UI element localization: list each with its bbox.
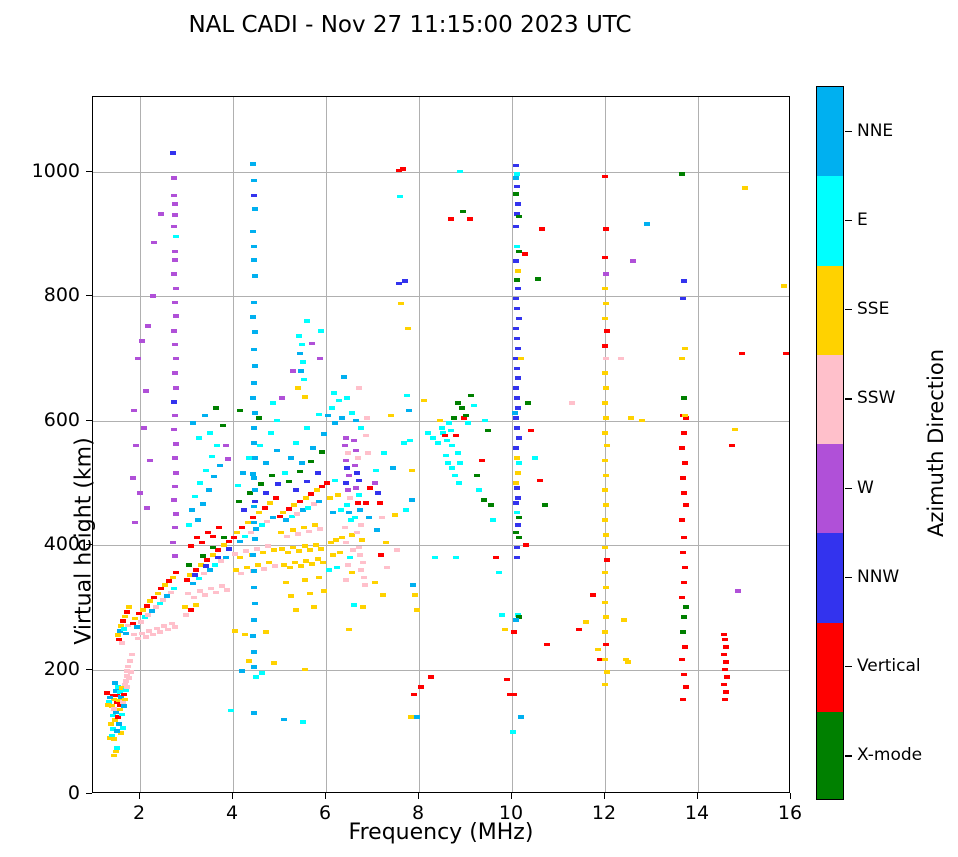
echo-point <box>134 625 140 629</box>
echo-point <box>479 459 485 463</box>
echo-point <box>223 444 229 448</box>
echo-point <box>281 718 287 722</box>
echo-point <box>476 488 482 492</box>
echo-point <box>412 593 418 597</box>
echo-point <box>602 401 608 405</box>
echo-point <box>680 551 686 555</box>
colorbar-segment-nne[interactable] <box>817 87 843 177</box>
echo-point <box>196 436 202 440</box>
echo-point <box>405 327 411 331</box>
echo-point <box>293 441 299 445</box>
echo-point <box>122 698 128 702</box>
echo-point <box>425 431 431 435</box>
echo-point <box>502 628 508 632</box>
echo-point <box>406 409 412 413</box>
echo-point <box>190 582 196 586</box>
echo-point <box>272 564 278 568</box>
echo-point <box>449 466 455 470</box>
echo-point <box>194 536 200 540</box>
echo-point <box>248 531 254 535</box>
echo-point <box>468 394 474 398</box>
echo-point <box>625 660 631 664</box>
echo-point <box>168 591 174 595</box>
echo-point <box>345 451 351 455</box>
echo-point <box>516 516 522 520</box>
echo-point <box>366 516 372 520</box>
echo-point <box>355 456 361 460</box>
echo-point <box>242 535 248 539</box>
echo-point <box>220 424 226 428</box>
echo-point <box>448 217 454 221</box>
echo-point <box>604 444 610 448</box>
echo-point <box>207 568 213 572</box>
echo-point <box>569 401 575 405</box>
y-tick <box>86 295 92 296</box>
echo-point <box>320 561 326 565</box>
echo-point <box>513 225 519 229</box>
echo-point <box>319 450 325 454</box>
echo-point <box>135 357 141 361</box>
echo-point <box>306 530 312 534</box>
echo-point <box>603 227 609 231</box>
echo-point <box>400 167 406 171</box>
echo-point <box>315 471 321 475</box>
echo-point <box>262 506 268 510</box>
echo-point <box>251 348 257 352</box>
echo-point <box>679 518 685 522</box>
echo-point <box>264 520 270 524</box>
echo-point <box>228 709 234 713</box>
echo-point <box>286 480 292 484</box>
echo-point <box>171 225 177 229</box>
echo-point <box>145 324 151 328</box>
echo-point <box>250 516 256 520</box>
echo-point <box>681 279 687 283</box>
echo-point <box>240 471 246 475</box>
echo-point <box>514 456 520 460</box>
echo-point <box>346 628 352 632</box>
echo-point <box>111 754 117 758</box>
echo-point <box>252 537 258 541</box>
echo-point <box>124 685 130 689</box>
echo-point <box>602 601 608 605</box>
echo-point <box>125 665 131 669</box>
echo-point <box>356 479 362 483</box>
echo-point <box>723 645 729 649</box>
echo-point <box>388 414 394 418</box>
echo-point <box>251 521 257 525</box>
x-tick <box>790 793 791 799</box>
colorbar-title: Azimuth Direction <box>924 349 948 537</box>
echo-point <box>157 630 163 634</box>
echo-point <box>514 546 520 550</box>
echo-point <box>280 511 286 515</box>
echo-point <box>446 421 452 425</box>
echo-point <box>197 481 203 485</box>
echo-point <box>143 635 149 639</box>
echo-point <box>410 583 416 587</box>
echo-point <box>111 737 117 741</box>
echo-point <box>172 554 178 558</box>
echo-point <box>188 608 194 612</box>
echo-point <box>513 164 519 168</box>
echo-point <box>204 558 210 562</box>
echo-point <box>211 475 217 479</box>
echo-point <box>303 496 309 500</box>
echo-point <box>511 630 517 634</box>
colorbar-tick <box>845 488 852 489</box>
echo-point <box>286 507 292 511</box>
echo-point <box>301 378 307 382</box>
echo-point <box>682 566 688 570</box>
echo-point <box>515 202 521 206</box>
echo-point <box>602 256 608 260</box>
echo-point <box>343 459 349 463</box>
echo-point <box>114 746 120 750</box>
echo-point <box>241 508 247 512</box>
echo-point <box>121 693 127 697</box>
echo-point <box>141 426 147 430</box>
echo-point <box>349 411 355 415</box>
echo-point <box>210 546 216 550</box>
echo-point <box>397 195 403 199</box>
echo-point <box>485 429 491 433</box>
echo-point <box>271 661 277 665</box>
echo-point <box>603 586 609 590</box>
echo-point <box>513 297 519 301</box>
echo-point <box>120 726 126 730</box>
echo-point <box>251 569 257 573</box>
echo-point <box>449 444 455 448</box>
echo-point <box>215 556 221 560</box>
echo-point <box>602 317 608 321</box>
echo-point <box>680 630 686 634</box>
echo-point <box>680 476 686 480</box>
echo-point <box>343 436 349 440</box>
echo-point <box>621 618 627 622</box>
echo-point <box>394 548 400 552</box>
echo-point <box>681 396 687 400</box>
echo-point <box>124 610 130 614</box>
echo-point <box>251 586 257 590</box>
echo-point <box>360 605 366 609</box>
echo-point <box>172 213 178 217</box>
echo-point <box>153 605 159 609</box>
echo-point <box>232 629 238 633</box>
colorbar-segment-x-mode[interactable] <box>817 712 843 800</box>
colorbar-segment-w[interactable] <box>817 444 843 534</box>
echo-point <box>722 668 728 672</box>
echo-point <box>513 192 519 196</box>
y-tick-label: 0 <box>68 782 80 804</box>
echo-point <box>342 444 348 448</box>
echo-point <box>544 643 550 647</box>
echo-point <box>171 194 177 198</box>
echo-point <box>120 619 126 623</box>
echo-point <box>336 399 342 403</box>
echo-point <box>108 722 114 726</box>
echo-point <box>402 279 408 283</box>
echo-point <box>172 250 178 254</box>
echo-point <box>139 339 145 343</box>
echo-point <box>309 342 315 346</box>
echo-point <box>457 461 463 465</box>
y-axis-title: Virtual height (km) <box>72 437 97 644</box>
colorbar-segment-ssw[interactable] <box>817 355 843 445</box>
echo-point <box>171 587 177 591</box>
echo-point <box>209 455 215 459</box>
colorbar-label-ssw: SSW <box>857 388 895 408</box>
echo-point <box>525 401 531 405</box>
echo-point <box>203 564 209 568</box>
echo-point <box>288 456 294 460</box>
echo-point <box>251 650 257 654</box>
echo-point <box>680 297 686 301</box>
echo-point <box>237 540 243 544</box>
echo-point <box>171 176 177 180</box>
echo-point <box>513 176 519 180</box>
echo-point <box>279 396 285 400</box>
echo-point <box>321 432 327 436</box>
colorbar-label-vertical: Vertical <box>857 656 921 676</box>
echo-point <box>212 563 218 567</box>
echo-point <box>362 583 368 587</box>
echo-point <box>398 302 404 306</box>
echo-point <box>515 287 521 291</box>
echo-point <box>467 217 473 221</box>
echo-point <box>453 434 459 438</box>
echo-point <box>275 482 281 486</box>
echo-point <box>239 669 245 673</box>
echo-point <box>356 493 362 497</box>
echo-point <box>236 500 242 504</box>
colorbar-segment-sse[interactable] <box>817 266 843 356</box>
echo-point <box>351 439 357 443</box>
echo-point <box>514 556 520 560</box>
echo-point <box>513 416 519 420</box>
echo-point <box>338 508 344 512</box>
echo-point <box>171 428 177 432</box>
colorbar-tick <box>845 220 852 221</box>
colorbar-tick <box>845 398 852 399</box>
echo-point <box>377 501 383 505</box>
echo-point <box>721 633 727 637</box>
echo-point <box>345 563 351 567</box>
echo-point <box>171 400 177 404</box>
echo-point <box>131 409 137 413</box>
echo-point <box>352 516 358 520</box>
colorbar-label-x-mode: X-mode <box>857 745 922 765</box>
echo-point <box>305 506 311 510</box>
echo-point <box>112 681 118 685</box>
echo-point <box>437 419 443 423</box>
plot-axes <box>92 96 790 793</box>
echo-point <box>722 638 728 642</box>
echo-point <box>144 604 150 608</box>
echo-point <box>310 446 316 450</box>
echo-point <box>259 671 265 675</box>
echo-point <box>602 488 608 492</box>
echo-point <box>383 541 389 545</box>
echo-point <box>515 406 521 410</box>
x-tick <box>697 793 698 799</box>
echo-point <box>172 343 178 347</box>
echo-point <box>603 615 609 619</box>
echo-point <box>172 258 178 262</box>
echo-point <box>361 576 367 580</box>
echo-point <box>223 556 229 560</box>
echo-point <box>359 538 365 542</box>
echo-point <box>722 698 728 702</box>
echo-point <box>318 329 324 333</box>
echo-point <box>603 503 609 507</box>
echo-point <box>251 194 257 198</box>
echo-point <box>401 441 407 445</box>
echo-point <box>576 628 582 632</box>
echo-point <box>341 375 347 379</box>
echo-point <box>602 683 608 687</box>
echo-point <box>173 442 179 446</box>
colorbar[interactable] <box>816 86 844 800</box>
echo-point <box>297 500 303 504</box>
echo-point <box>602 344 608 348</box>
echo-point <box>307 592 313 596</box>
echo-point <box>172 625 178 629</box>
echo-point <box>537 479 543 483</box>
echo-point <box>165 628 171 632</box>
echo-point <box>347 496 353 500</box>
echo-point <box>680 698 686 702</box>
echo-point <box>682 414 688 418</box>
echo-point <box>514 396 520 400</box>
colorbar-segment-vertical[interactable] <box>817 623 843 713</box>
echo-point <box>296 334 302 338</box>
echo-point <box>251 618 257 622</box>
echo-point <box>145 613 151 617</box>
echo-point <box>602 431 608 435</box>
y-tick <box>86 420 92 421</box>
echo-point <box>481 498 487 502</box>
echo-point <box>151 241 157 245</box>
echo-point <box>353 419 359 423</box>
colorbar-label-sse: SSE <box>857 299 889 319</box>
echo-point <box>381 451 387 455</box>
colorbar-tick <box>845 577 852 578</box>
echo-point <box>604 558 610 562</box>
echo-point <box>321 589 327 593</box>
echo-point <box>409 498 415 502</box>
echo-point <box>496 571 502 575</box>
echo-point <box>471 404 477 408</box>
echo-point <box>681 673 687 677</box>
echo-point <box>683 605 689 609</box>
echo-point <box>384 566 390 570</box>
echo-point <box>157 602 163 606</box>
echo-point <box>327 496 333 500</box>
echo-point <box>516 317 522 321</box>
echo-point <box>380 593 386 597</box>
echo-point <box>681 431 687 435</box>
echo-point <box>343 578 349 582</box>
echo-point <box>203 469 209 473</box>
echo-point <box>442 434 448 438</box>
echo-point <box>332 421 338 425</box>
echo-point <box>307 548 313 552</box>
echo-point <box>390 466 396 470</box>
echo-point <box>290 369 296 373</box>
echo-point <box>346 511 352 515</box>
echo-point <box>428 675 434 679</box>
echo-point <box>252 274 258 278</box>
echo-point <box>191 596 197 600</box>
echo-point <box>172 301 178 305</box>
echo-point <box>414 715 420 719</box>
echo-point <box>107 696 113 700</box>
echo-point <box>150 294 156 298</box>
x-tick <box>604 793 605 799</box>
y-tick <box>86 171 92 172</box>
echo-point <box>456 481 462 485</box>
echo-point <box>271 548 277 552</box>
echo-point <box>304 426 310 430</box>
echo-point <box>172 456 178 460</box>
echo-point <box>511 693 517 697</box>
echo-point <box>535 277 541 281</box>
echo-point <box>602 571 608 575</box>
echo-point <box>237 556 243 560</box>
echo-point <box>595 648 601 652</box>
echo-point <box>490 518 496 522</box>
x-tick <box>325 793 326 799</box>
echo-point <box>364 416 370 420</box>
echo-point <box>297 470 303 474</box>
echo-point <box>421 399 427 403</box>
echo-point <box>404 394 410 398</box>
echo-point <box>251 441 257 445</box>
echo-point <box>170 541 176 545</box>
echo-point <box>430 436 436 440</box>
colorbar-segment-nnw[interactable] <box>817 533 843 623</box>
echo-point <box>721 653 727 657</box>
y-tick <box>86 793 92 794</box>
echo-point <box>682 461 688 465</box>
echo-point <box>300 720 306 724</box>
echo-point <box>353 486 359 490</box>
echo-point <box>679 658 685 662</box>
echo-point <box>343 541 349 545</box>
y-tick-label: 800 <box>44 284 80 306</box>
echo-point <box>252 602 258 606</box>
echo-point <box>126 676 132 680</box>
echo-point <box>590 593 596 597</box>
echo-point <box>283 581 289 585</box>
echo-point <box>263 630 269 634</box>
echo-point <box>151 596 157 600</box>
echo-point <box>263 491 269 495</box>
echo-point <box>221 536 227 540</box>
echo-point <box>206 488 212 492</box>
echo-point <box>514 426 520 430</box>
colorbar-segment-e[interactable] <box>817 176 843 266</box>
x-tick <box>139 793 140 799</box>
echo-point <box>158 212 164 216</box>
echo-point <box>337 551 343 555</box>
echo-point <box>173 314 179 318</box>
echo-point <box>408 715 414 719</box>
echo-point <box>602 518 608 522</box>
colorbar-tick <box>845 755 852 756</box>
echo-point <box>604 670 610 674</box>
